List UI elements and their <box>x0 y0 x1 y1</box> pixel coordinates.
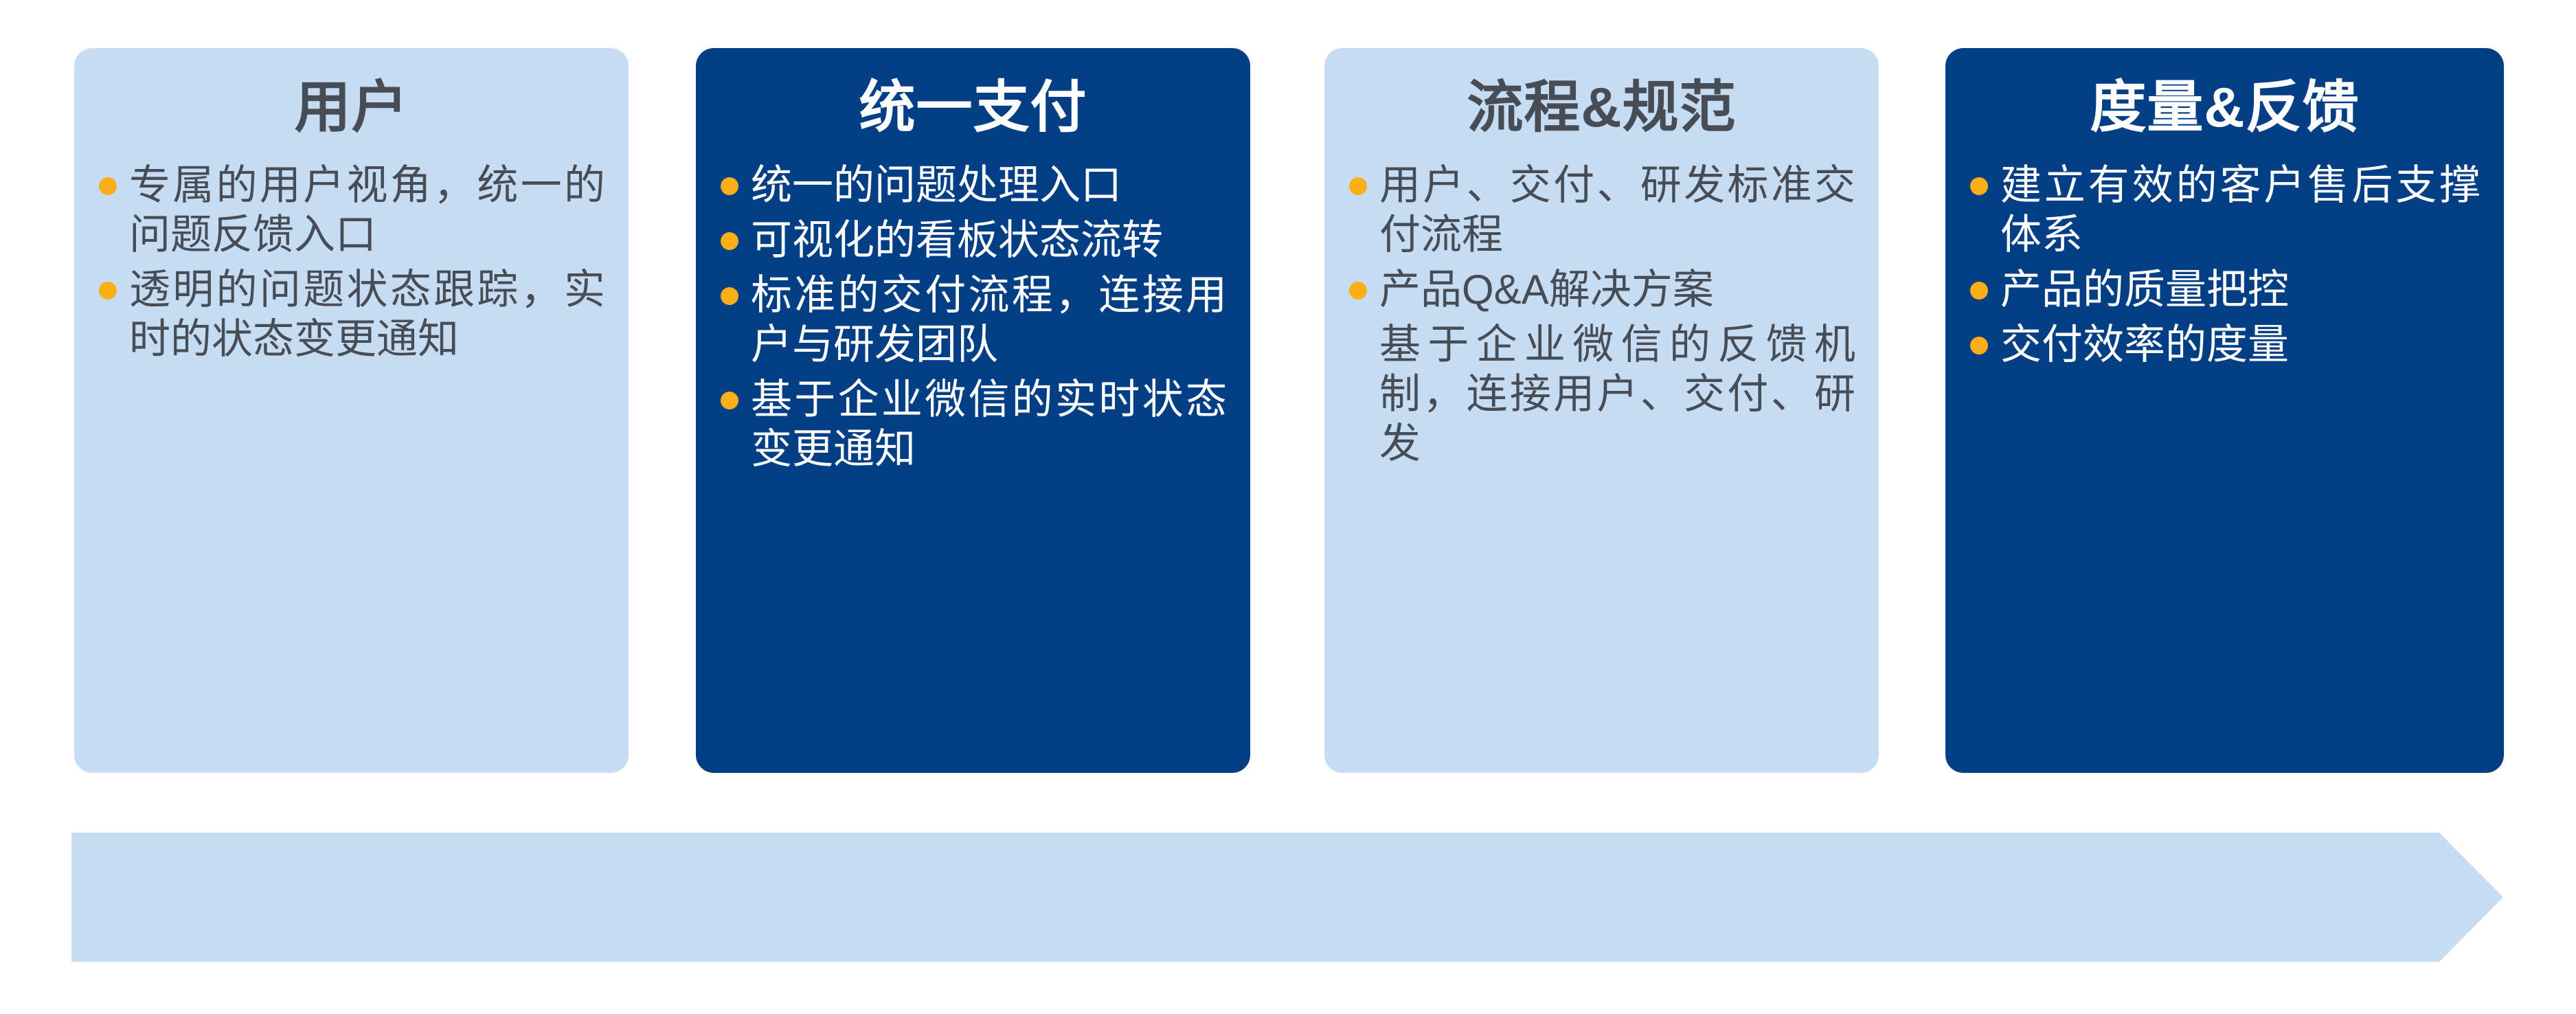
list-item: 透明的问题状态跟踪，实时的状态变更通知 <box>95 265 605 364</box>
bullet-list: 用户、交付、研发标准交付流程 产品Q&A解决方案 基于企业微信的反馈机制，连接用… <box>1324 136 1879 469</box>
list-item-label: 专属的用户视角，统一的问题反馈入口 <box>129 162 605 258</box>
card-measurement-and-feedback[interactable]: 度量&反馈 建立有效的客户售后支撑体系 产品的质量把控 交付效率的度量 <box>1945 48 2504 773</box>
bullet-dot-icon <box>99 282 117 300</box>
bullet-dot-icon <box>1349 282 1367 300</box>
bullet-dot-icon <box>721 287 738 305</box>
list-item-label: 建立有效的客户售后支撑体系 <box>2000 162 2481 258</box>
list-item-label: 交付效率的度量 <box>2000 322 2289 368</box>
list-item-label: 用户、交付、研发标准交付流程 <box>1379 162 1855 258</box>
bullet-list: 统一的问题处理入口 可视化的看板状态流转 标准的交付流程，连接用户与研发团队 基… <box>696 136 1250 474</box>
arrow-right-icon <box>71 833 2503 962</box>
bullet-dot-icon <box>721 392 738 409</box>
list-item: 用户、交付、研发标准交付流程 <box>1345 161 1855 260</box>
list-item: 可视化的看板状态流转 <box>716 216 1227 265</box>
card-user[interactable]: 用户 专属的用户视角，统一的问题反馈入口 透明的问题状态跟踪，实时的状态变更通知 <box>74 48 629 773</box>
list-item-note: 基于企业微信的反馈机制，连接用户、交付、研发 <box>1345 320 1855 469</box>
list-item-label: 标准的交付流程，连接用户与研发团队 <box>751 272 1227 368</box>
list-item: 基于企业微信的实时状态变更通知 <box>716 375 1227 474</box>
bullet-dot-icon <box>1970 337 1988 354</box>
list-item: 产品的质量把控 <box>1966 265 2481 315</box>
card-process-and-standards[interactable]: 流程&规范 用户、交付、研发标准交付流程 产品Q&A解决方案 基于企业微信的反馈… <box>1324 48 1879 773</box>
card-title: 统一支付 <box>696 48 1250 136</box>
list-item: 专属的用户视角，统一的问题反馈入口 <box>95 161 605 260</box>
list-item: 标准的交付流程，连接用户与研发团队 <box>716 271 1227 370</box>
card-title: 度量&反馈 <box>1945 48 2504 136</box>
bullet-dot-icon <box>1970 282 1988 300</box>
list-item: 建立有效的客户售后支撑体系 <box>1966 161 2481 260</box>
list-item-label: 统一的问题处理入口 <box>751 162 1122 208</box>
list-item: 产品Q&A解决方案 <box>1345 265 1855 315</box>
list-item-label: 可视化的看板状态流转 <box>751 217 1163 263</box>
card-unified-payment[interactable]: 统一支付 统一的问题处理入口 可视化的看板状态流转 标准的交付流程，连接用户与研… <box>696 48 1250 773</box>
list-item-label: 产品Q&A解决方案 <box>1379 267 1714 313</box>
bullet-dot-icon <box>1349 177 1367 195</box>
card-deck: 用户 专属的用户视角，统一的问题反馈入口 透明的问题状态跟踪，实时的状态变更通知… <box>0 0 2576 797</box>
bullet-list: 建立有效的客户售后支撑体系 产品的质量把控 交付效率的度量 <box>1945 136 2504 370</box>
card-title: 流程&规范 <box>1324 48 1879 136</box>
bullet-dot-icon <box>99 177 117 195</box>
list-item: 交付效率的度量 <box>1966 320 2481 370</box>
bullet-dot-icon <box>1970 177 1988 195</box>
list-item: 统一的问题处理入口 <box>716 161 1227 210</box>
list-item-label: 透明的问题状态跟踪，实时的状态变更通知 <box>129 267 605 362</box>
process-flow-arrow <box>71 833 2503 962</box>
card-title: 用户 <box>74 48 629 136</box>
bullet-list: 专属的用户视角，统一的问题反馈入口 透明的问题状态跟踪，实时的状态变更通知 <box>74 136 629 364</box>
list-item-label: 基于企业微信的实时状态变更通知 <box>751 376 1227 472</box>
list-item-label: 产品的质量把控 <box>2000 267 2289 313</box>
bullet-dot-icon <box>721 177 738 195</box>
bullet-dot-icon <box>721 232 738 250</box>
